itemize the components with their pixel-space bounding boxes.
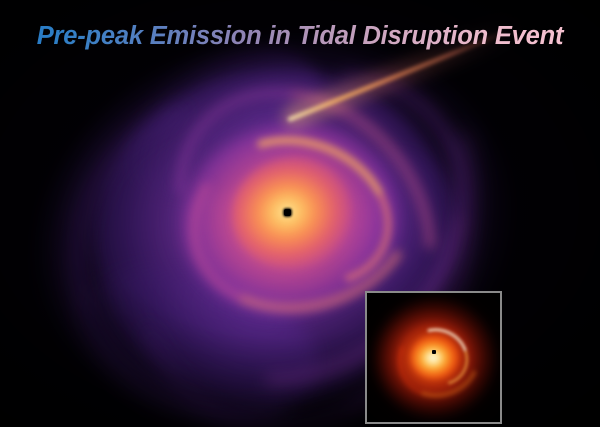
figure-canvas: Pre-peak Emission in Tidal Disruption Ev…: [0, 0, 600, 427]
inset-black-hole-marker: [432, 350, 436, 354]
figure-title: Pre-peak Emission in Tidal Disruption Ev…: [0, 22, 600, 51]
inner-accretion-flow-inset: [365, 291, 502, 424]
lower-left-fan: [56, 242, 335, 427]
black-hole-marker: [284, 209, 291, 216]
tidal-disruption-simulation-panel: [0, 0, 600, 427]
inset-core-glow: [411, 335, 459, 379]
